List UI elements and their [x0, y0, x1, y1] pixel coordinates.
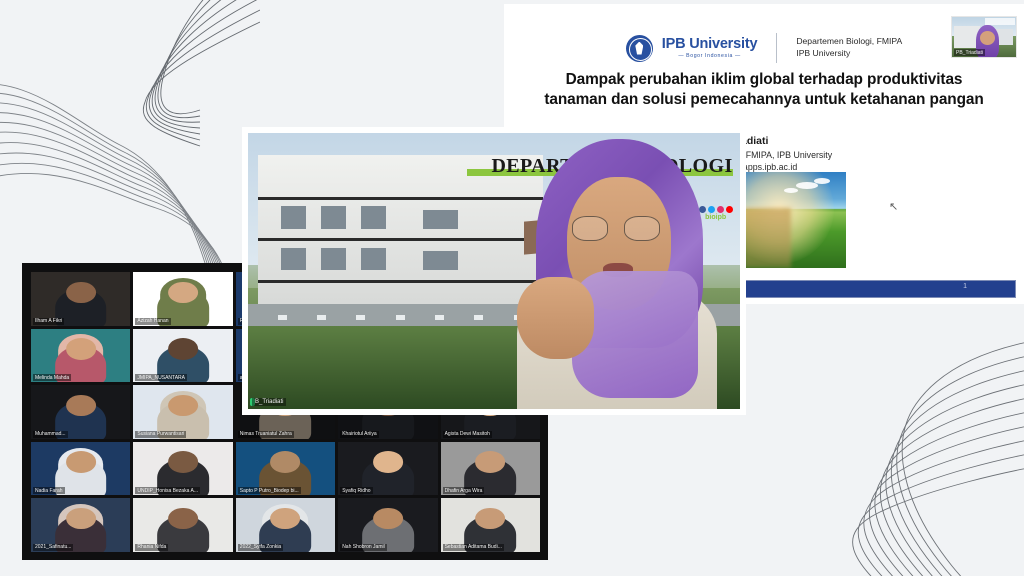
participant-name-label: Dhafin Arga Wira: [443, 487, 485, 494]
cloud-icon: [796, 182, 818, 189]
participant-name-label: 2022_Syifa Zonkia: [238, 544, 283, 551]
participant-name-label: Khairiotul Ariiya: [340, 431, 378, 438]
participant-name-label: Agista Dewi Masitoh: [443, 431, 492, 438]
participant-name-label: Syafiq Ridho: [340, 487, 372, 494]
ipb-seal-icon: [626, 35, 653, 62]
participant-name-label: Nimas Truaniatul Zahra: [238, 431, 294, 438]
participant-name-label: Rhania Nifda: [135, 544, 168, 551]
participant-tile[interactable]: Nah Shobron Jamil: [338, 498, 437, 552]
participant-name-label: Muhammad...: [33, 431, 68, 438]
ipb-name: IPB University: [662, 37, 758, 52]
cloud-icon: [814, 178, 830, 184]
participant-name-label: Ilham A Fikri: [33, 318, 64, 325]
department-line-1: Departemen Biologi, FMIPA: [796, 36, 902, 48]
screen-root: IPB University — Bogor Indonesia — Depar…: [0, 0, 1024, 576]
mouse-cursor: ↖: [889, 202, 897, 213]
participant-tile[interactable]: Syafiq Ridho: [338, 442, 437, 496]
participant-name-label: Sapto P Putro_Biodep bi...: [238, 487, 301, 494]
presenter-affiliation: gi, FMIPA, IPB University: [734, 149, 934, 161]
dry-field-region: [744, 208, 791, 268]
cloud-icon: [784, 188, 798, 193]
participant-tile[interactable]: UNDIP_Honisa Bezaka A...: [133, 442, 232, 496]
selfview-face: [980, 31, 995, 45]
participant-name-label: Sebastian Aditama Budi...: [443, 544, 504, 551]
speaker-glasses-right: [624, 216, 660, 241]
green-field-photo: [744, 172, 846, 268]
participant-name-label: Nadia Farah: [33, 487, 65, 494]
speaker-glasses-left: [572, 216, 608, 241]
participant-tile[interactable]: 2021_Safinatu...: [31, 498, 130, 552]
department-text: Departemen Biologi, FMIPA IPB University: [796, 36, 902, 59]
participant-tile[interactable]: JMIPA_NUSANTARA: [133, 329, 232, 383]
participant-name-label: Susiana Purwantisari: [135, 431, 186, 438]
participant-tile[interactable]: Rhania Nifda: [133, 498, 232, 552]
participant-tile[interactable]: Sebastian Aditama Budi...: [441, 498, 540, 552]
participant-tile[interactable]: Susiana Purwantisari: [133, 385, 232, 439]
department-line-2: IPB University: [796, 48, 902, 60]
ipb-wordmark: IPB University — Bogor Indonesia —: [662, 37, 758, 59]
participant-tile[interactable]: Dhafin Arga Wira: [441, 442, 540, 496]
participant-name-label: JMIPA_NUSANTARA: [135, 374, 187, 381]
participant-tile[interactable]: Nadia Farah: [31, 442, 130, 496]
participant-tile[interactable]: Melinda Mahda: [31, 329, 130, 383]
wave-line-art-decoration-top-left: [0, 0, 260, 280]
participant-tile[interactable]: 2022_Syifa Zonkia: [236, 498, 335, 552]
active-speaker-window[interactable]: DEPARTEMEN BIOLOGI IPB University — Bogo…: [242, 127, 746, 415]
participant-name-label: 2021_Safinatu...: [33, 544, 73, 551]
speaker-figure: [504, 133, 730, 409]
presenter-name: riadiati: [734, 134, 934, 149]
wave-line-art-decoration-bottom-right: [824, 326, 1024, 576]
active-speaker-video: DEPARTEMEN BIOLOGI IPB University — Bogo…: [248, 133, 740, 409]
selfview-name-label: PB_Triadiati: [954, 49, 985, 56]
presenter-info: riadiati gi, FMIPA, IPB University @apps…: [734, 134, 934, 173]
participant-tile[interactable]: Azizah Hanan: [133, 272, 232, 326]
slide-page-number: 1: [963, 283, 967, 290]
participant-tile[interactable]: Ilham A Fikri: [31, 272, 130, 326]
ipb-brand-lockup: IPB University — Bogor Indonesia — Depar…: [626, 33, 902, 63]
slide-title: Dampak perubahan iklim global terhadap p…: [538, 70, 990, 109]
participant-name-label: UNDIP_Honisa Bezaka A...: [135, 487, 200, 494]
selfview-banner: [985, 18, 1015, 25]
self-view-thumbnail[interactable]: PB_Triadiati: [951, 16, 1017, 58]
background-building: [258, 155, 543, 315]
participant-name-label: Nah Shobron Jamil: [340, 544, 387, 551]
speaker-name-label: B_Triadiati: [252, 398, 286, 406]
participant-name-label: Melinda Mahda: [33, 374, 71, 381]
participant-tile[interactable]: Sapto P Putro_Biodep bi...: [236, 442, 335, 496]
participant-tile[interactable]: Muhammad...: [31, 385, 130, 439]
participant-name-label: Azizah Hanan: [135, 318, 170, 325]
ipb-tagline: — Bogor Indonesia —: [662, 54, 758, 59]
speaker-hand: [517, 277, 594, 360]
brand-divider: [776, 33, 777, 63]
slide-header: IPB University — Bogor Indonesia — Depar…: [504, 26, 1024, 70]
